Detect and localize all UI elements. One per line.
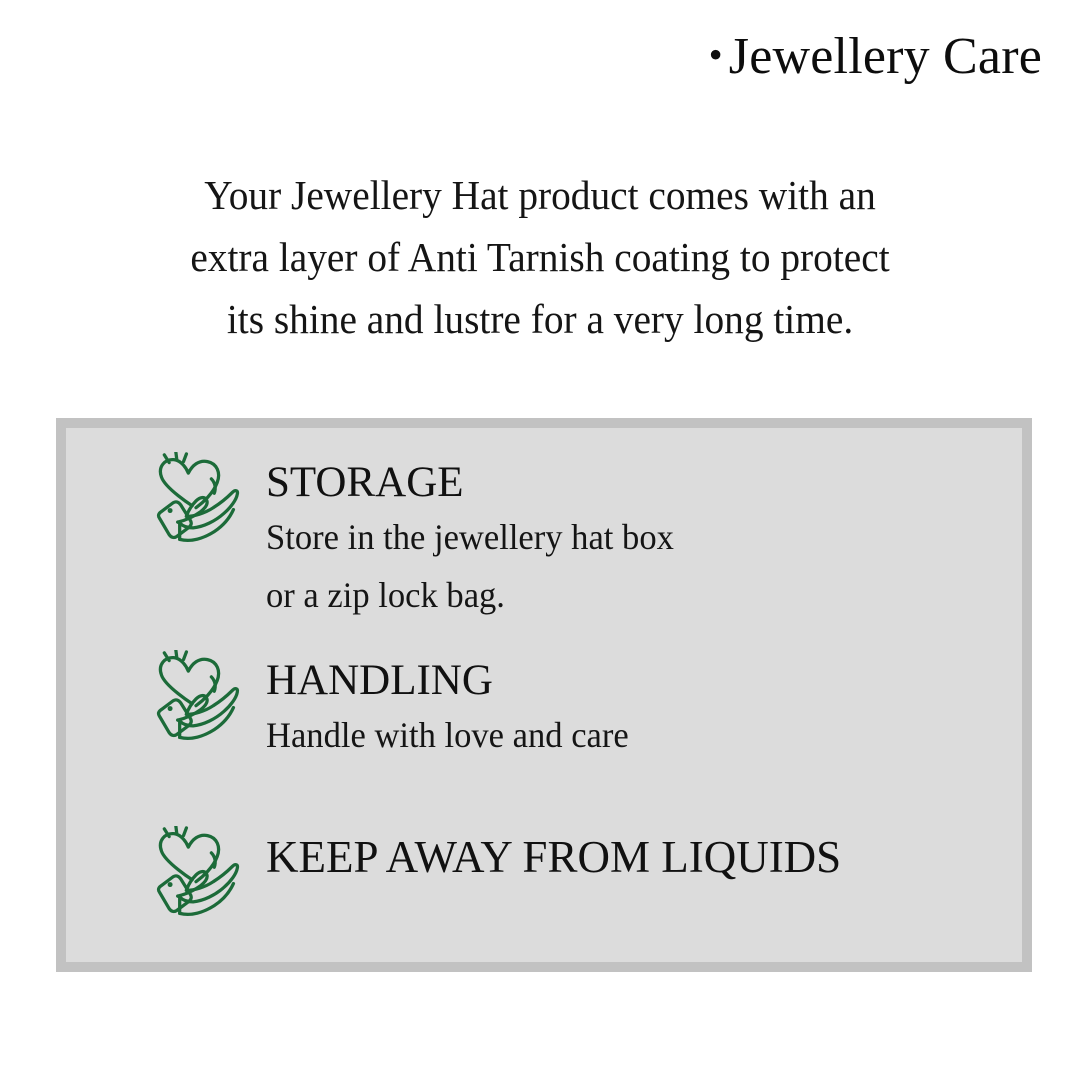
heart-in-hand-icon <box>148 452 244 548</box>
care-item-line: Handle with love and care <box>266 706 629 764</box>
heart-in-hand-icon <box>148 826 244 922</box>
care-item-text: HANDLING Handle with love and care <box>266 650 644 764</box>
care-item-text: KEEP AWAY FROM LIQUIDS <box>266 826 841 882</box>
care-item-description: Store in the jewellery hat box or a zip … <box>266 508 691 624</box>
care-item-storage: STORAGE Store in the jewellery hat box o… <box>148 452 691 624</box>
care-item-handling: HANDLING Handle with love and care <box>148 650 644 764</box>
intro-line-2: extra layer of Anti Tarnish coating to p… <box>89 226 991 288</box>
page-title-row: •Jewellery Care <box>0 28 1042 85</box>
care-item-keep-away-from-liquids: KEEP AWAY FROM LIQUIDS <box>148 826 841 922</box>
care-item-heading: HANDLING <box>266 657 493 704</box>
intro-line-3: its shine and lustre for a very long tim… <box>89 288 991 350</box>
care-item-line: or a zip lock bag. <box>266 566 674 624</box>
care-item-heading: STORAGE <box>266 459 464 506</box>
page-title-text: Jewellery Care <box>729 28 1042 85</box>
care-item-text: STORAGE Store in the jewellery hat box o… <box>266 452 691 624</box>
care-item-description: Handle with love and care <box>266 706 644 764</box>
care-instructions-list: STORAGE Store in the jewellery hat box o… <box>66 428 1022 962</box>
intro-line-1: Your Jewellery Hat product comes with an <box>89 164 991 226</box>
title-bullet-icon: • <box>709 32 729 77</box>
care-item-heading: KEEP AWAY FROM LIQUIDS <box>266 832 841 882</box>
intro-paragraph: Your Jewellery Hat product comes with an… <box>70 164 1010 350</box>
page-title: •Jewellery Care <box>709 28 1042 85</box>
care-item-line: Store in the jewellery hat box <box>266 508 674 566</box>
heart-in-hand-icon <box>148 650 244 746</box>
care-instructions-panel: STORAGE Store in the jewellery hat box o… <box>56 418 1032 972</box>
